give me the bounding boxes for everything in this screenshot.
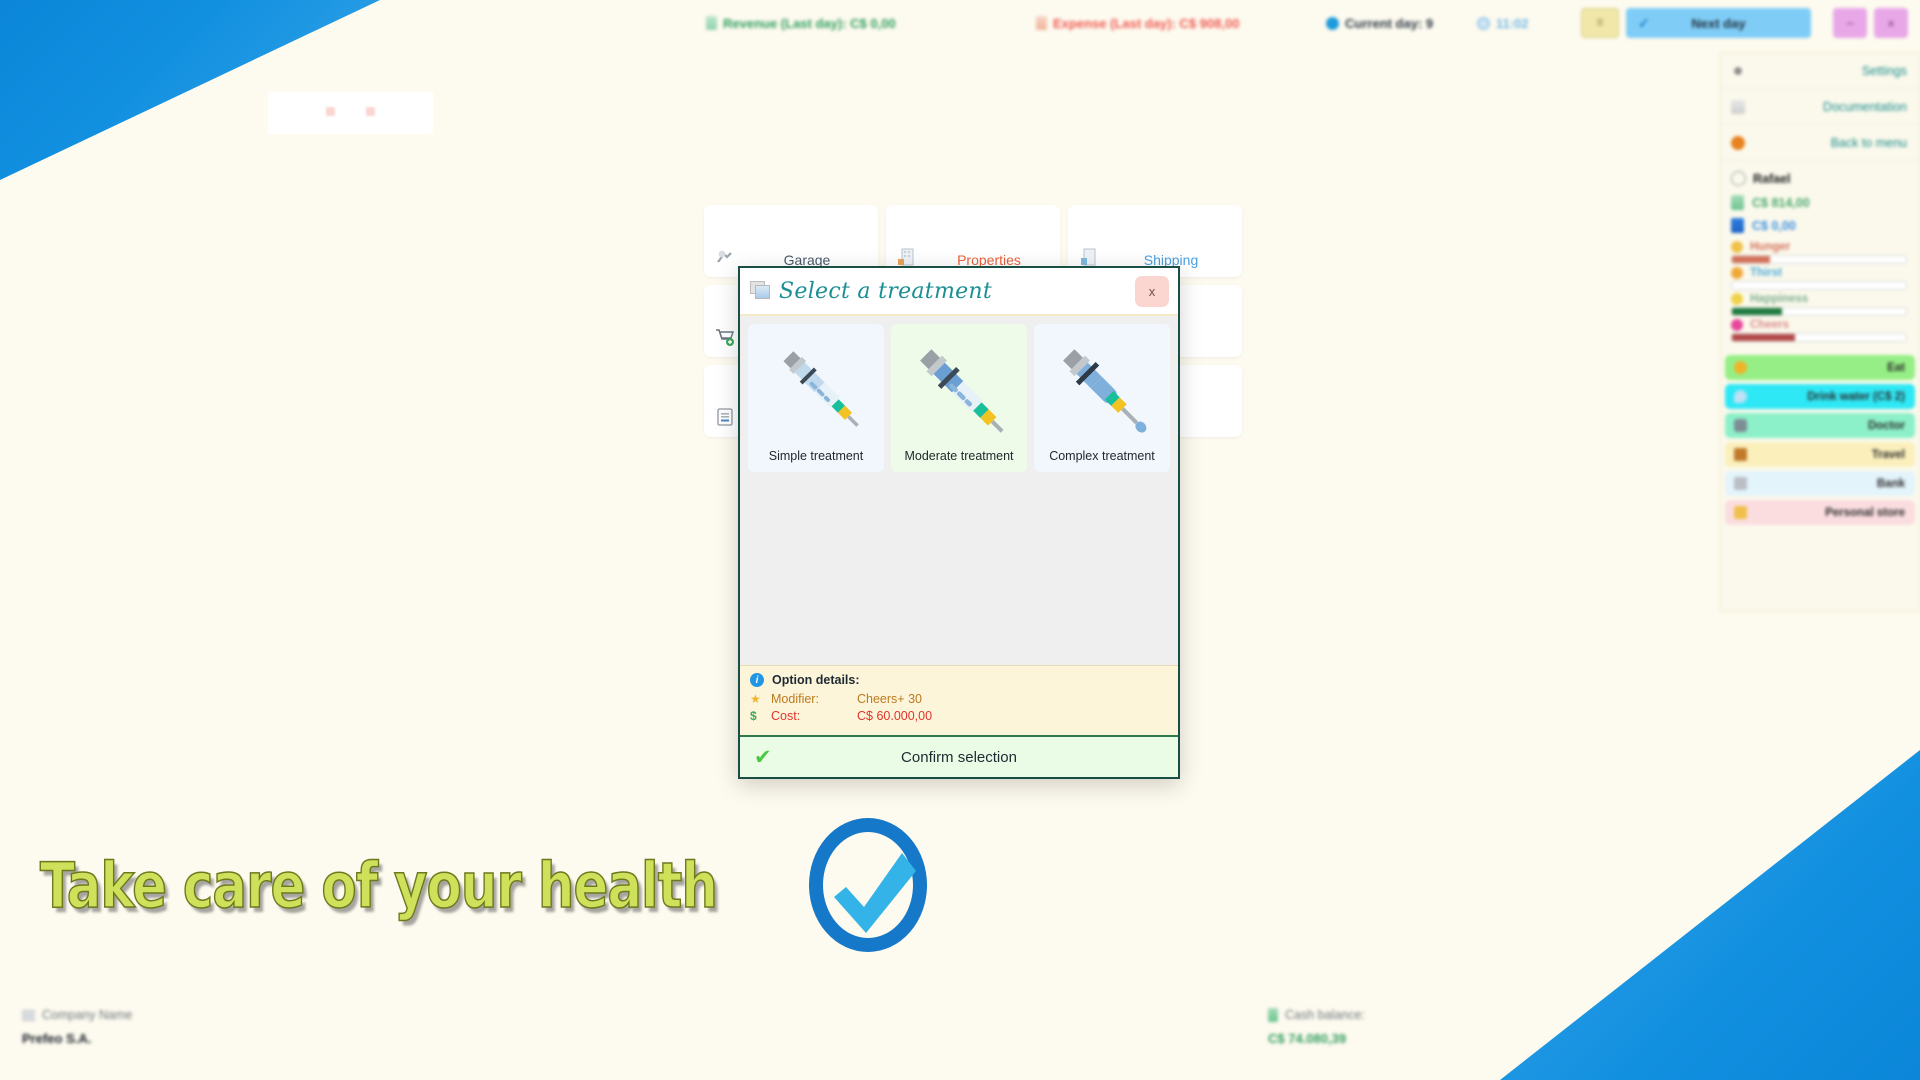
banner-text: Take care of your health xyxy=(40,849,717,922)
check-circle-icon xyxy=(798,815,938,955)
player-bank-value: C$ 0,00 xyxy=(1752,219,1796,233)
star-icon: ★ xyxy=(750,692,763,706)
clock-text: 11:02 xyxy=(1496,16,1529,31)
action-label: Travel xyxy=(1872,449,1905,461)
modal-close-button[interactable]: x xyxy=(1135,276,1169,307)
travel-icon xyxy=(1734,448,1747,461)
action-drink-water-button[interactable]: Drink water (C$ 2) xyxy=(1725,384,1915,409)
next-day-label: Next day xyxy=(1691,16,1745,31)
cash-balance-value: C$ 74.080,39 xyxy=(1268,1031,1365,1046)
action-label: Personal store xyxy=(1825,507,1905,519)
stat-label: Thirst xyxy=(1750,267,1782,279)
stat-label-row: Thirst xyxy=(1731,267,1907,279)
player-bank-row: C$ 0,00 xyxy=(1731,218,1907,233)
pause-label: II xyxy=(1582,9,1618,37)
treatment-option-moderate[interactable]: Moderate treatment xyxy=(891,324,1027,472)
stat-label-row: Happiness xyxy=(1731,293,1907,305)
detail-value: Cheers+ 30 xyxy=(857,692,922,706)
stat-label: Cheers xyxy=(1750,319,1789,331)
company-label-row: Company Name xyxy=(22,1008,132,1022)
modal-header: Select a treatment x xyxy=(740,268,1178,316)
detail-row-modifier: ★ Modifier: Cheers+ 30 xyxy=(750,692,1168,706)
player-panel: Rafael C$ 814,00 C$ 0,00 Hunger xyxy=(1721,161,1919,351)
stat-bar-fill xyxy=(1732,308,1782,315)
doctor-icon xyxy=(1734,419,1747,432)
syringe-icon xyxy=(900,332,1018,455)
action-label: Drink water (C$ 2) xyxy=(1807,391,1905,403)
stat-label: Hunger xyxy=(1750,241,1790,253)
check-icon: ✔ xyxy=(754,747,772,768)
pause-button[interactable]: II xyxy=(1581,8,1619,38)
revenue-text: Revenue (Last day): C$ 0,00 xyxy=(723,16,896,31)
player-cash-row: C$ 814,00 xyxy=(1731,195,1907,210)
cash-label-row: Cash balance: xyxy=(1268,1008,1365,1022)
stat-happiness: Happiness xyxy=(1731,293,1907,316)
option-details-panel: i Option details: ★ Modifier: Cheers+ 30… xyxy=(740,665,1178,735)
sidebar-item-back-to-menu[interactable]: Back to menu xyxy=(1721,125,1919,161)
treatment-option-grid: Simple treatment xyxy=(748,324,1170,472)
thirst-icon xyxy=(1731,267,1743,279)
modal-body: Simple treatment xyxy=(740,316,1178,665)
detail-row-cost: $ Cost: C$ 60.000,00 xyxy=(750,709,1168,723)
current-day-text: Current day: 9 xyxy=(1345,16,1433,31)
info-icon xyxy=(1326,17,1339,30)
player-cash-value: C$ 814,00 xyxy=(1752,196,1810,210)
sidebar-item-label: Documentation xyxy=(1823,100,1907,114)
stat-label-row: Cheers xyxy=(1731,319,1907,331)
action-doctor-button[interactable]: Doctor xyxy=(1725,413,1915,438)
top-bar: Revenue (Last day): C$ 0,00 Expense (Las… xyxy=(0,0,1920,46)
cart-icon xyxy=(714,326,736,348)
dollar-icon: $ xyxy=(750,709,763,723)
action-button-list: Eat Drink water (C$ 2) Doctor Travel Ban… xyxy=(1721,351,1919,525)
store-icon xyxy=(1734,506,1747,519)
bank-icon xyxy=(1734,477,1747,490)
detail-value: C$ 60.000,00 xyxy=(857,709,932,723)
treatment-option-simple[interactable]: Simple treatment xyxy=(748,324,884,472)
action-eat-button[interactable]: Eat xyxy=(1725,355,1915,380)
action-bank-button[interactable]: Bank xyxy=(1725,471,1915,496)
player-name-row: Rafael xyxy=(1731,171,1907,186)
background-dialog xyxy=(268,92,433,134)
syringe-icon xyxy=(1043,332,1161,455)
user-circle-icon xyxy=(1731,171,1746,186)
stat-bar-fill xyxy=(1732,334,1795,341)
action-label: Doctor xyxy=(1868,420,1905,432)
cash-balance-info: Cash balance: C$ 74.080,39 xyxy=(1268,1008,1365,1046)
info-icon: i xyxy=(750,673,764,687)
clock-display: 11:02 xyxy=(1477,16,1529,31)
treatment-label: Simple treatment xyxy=(769,449,863,463)
shipping-icon xyxy=(1078,246,1100,268)
money-bill-icon xyxy=(1731,195,1744,210)
cash-label: Cash balance: xyxy=(1285,1008,1365,1022)
app-root: Revenue (Last day): C$ 0,00 Expense (Las… xyxy=(0,0,1920,1080)
close-icon: x xyxy=(1149,284,1156,299)
check-icon: ✓ xyxy=(1638,15,1650,32)
bottom-bar: Company Name Prefeo S.A. Cash balance: C… xyxy=(0,994,1920,1080)
money-bill-icon xyxy=(1268,1008,1278,1022)
sidebar-item-documentation[interactable]: Documentation xyxy=(1721,89,1919,125)
action-label: Bank xyxy=(1877,478,1905,490)
option-details-title: Option details: xyxy=(772,673,860,687)
dialog-dot xyxy=(326,107,335,116)
minimize-button[interactable]: − xyxy=(1833,8,1867,38)
confirm-label: Confirm selection xyxy=(901,749,1017,766)
health-banner: Take care of your health xyxy=(40,815,938,955)
expense-text: Expense (Last day): C$ 908,00 xyxy=(1053,16,1239,31)
garage-icon xyxy=(714,246,736,268)
stat-bar xyxy=(1731,281,1907,290)
stat-label: Happiness xyxy=(1750,293,1808,305)
water-icon xyxy=(1734,390,1747,403)
next-day-button[interactable]: ✓ Next day xyxy=(1626,8,1811,38)
food-icon xyxy=(1734,361,1747,374)
stat-hunger: Hunger xyxy=(1731,241,1907,264)
action-label: Eat xyxy=(1887,362,1905,374)
close-window-button[interactable]: × xyxy=(1874,8,1908,38)
syringe-icon xyxy=(760,332,872,449)
stat-bar xyxy=(1731,333,1907,342)
grid-icon xyxy=(22,1010,35,1021)
company-name: Prefeo S.A. xyxy=(22,1031,132,1046)
report-icon xyxy=(714,406,736,428)
company-label: Company Name xyxy=(42,1008,132,1022)
back-icon xyxy=(1731,136,1745,150)
card-icon xyxy=(1731,218,1744,233)
dialog-dot xyxy=(366,107,375,116)
stat-cheers: Cheers xyxy=(1731,319,1907,342)
expense-stat: Expense (Last day): C$ 908,00 xyxy=(1036,16,1239,31)
revenue-stat: Revenue (Last day): C$ 0,00 xyxy=(706,16,896,31)
gear-icon xyxy=(1731,64,1745,78)
company-info: Company Name Prefeo S.A. xyxy=(22,1008,132,1046)
sidebar-item-label: Back to menu xyxy=(1831,136,1907,150)
sidebar-item-settings[interactable]: Settings xyxy=(1721,53,1919,89)
detail-label: Cost: xyxy=(771,709,849,723)
stat-bar xyxy=(1731,307,1907,316)
action-personal-store-button[interactable]: Personal store xyxy=(1725,500,1915,525)
cheers-icon xyxy=(1731,319,1743,331)
modal-title: Select a treatment xyxy=(779,279,992,304)
window-stack-icon xyxy=(750,281,772,301)
close-icon: × xyxy=(1887,16,1895,31)
current-day-stat: Current day: 9 xyxy=(1326,16,1433,31)
sidebar-item-label: Settings xyxy=(1862,64,1907,78)
clock-icon xyxy=(1477,17,1490,30)
money-bill-icon xyxy=(1036,16,1047,30)
stat-thirst: Thirst xyxy=(1731,267,1907,290)
select-treatment-modal: Select a treatment x xyxy=(738,266,1180,779)
happiness-icon xyxy=(1731,293,1743,305)
option-details-header: i Option details: xyxy=(750,673,1168,687)
stat-label-row: Hunger xyxy=(1731,241,1907,253)
right-sidebar: Settings Documentation Back to menu Rafa… xyxy=(1720,52,1920,612)
stat-bar xyxy=(1731,255,1907,264)
stat-bar-fill xyxy=(1732,256,1770,263)
treatment-option-complex[interactable]: Complex treatment xyxy=(1034,324,1170,472)
properties-icon xyxy=(896,246,918,268)
player-name: Rafael xyxy=(1753,172,1791,186)
detail-label: Modifier: xyxy=(771,692,849,706)
document-icon xyxy=(1731,100,1745,114)
confirm-selection-button[interactable]: ✔ Confirm selection xyxy=(740,735,1178,777)
minimize-icon: − xyxy=(1846,16,1854,31)
money-bill-icon xyxy=(706,16,717,30)
hunger-icon xyxy=(1731,241,1743,253)
action-travel-button[interactable]: Travel xyxy=(1725,442,1915,467)
